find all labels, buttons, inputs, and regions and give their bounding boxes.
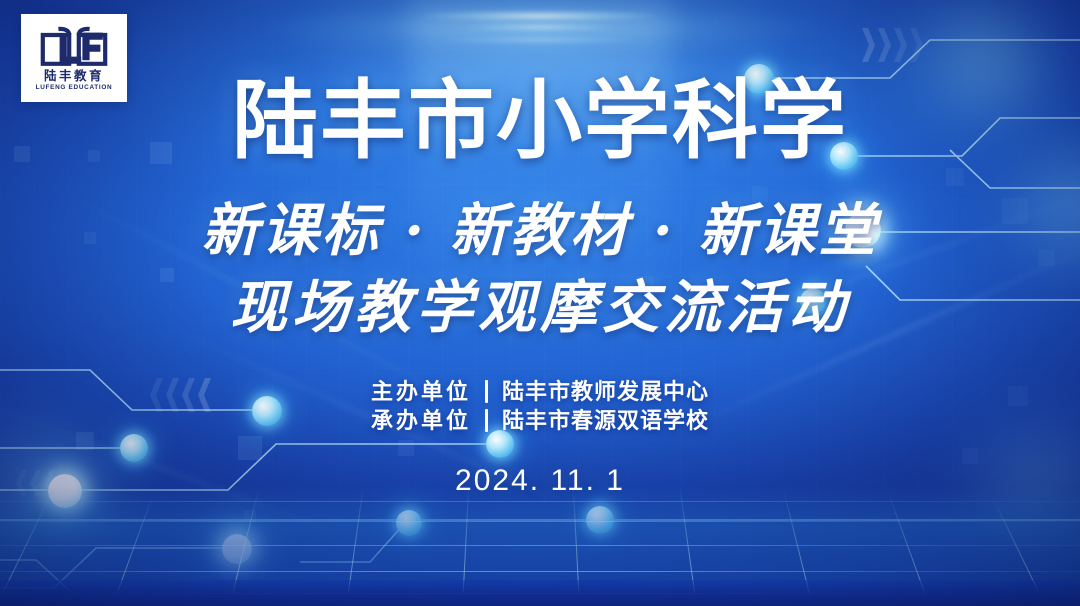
poster-canvas: 陆丰教育 LUFENG EDUCATION 陆丰市小学科学 新课标 · 新教材 … xyxy=(0,0,1080,606)
subtitle-line-2: 现场教学观摩交流活动 xyxy=(230,279,850,336)
organizer-row-coorganizer: 承办单位 陆丰市春源双语学校 xyxy=(371,409,709,432)
organizer-separator-host xyxy=(485,380,488,403)
subtitle-line-1: 新课标 · 新教材 · 新课堂 xyxy=(201,202,878,259)
organizer-row-host: 主办单位 陆丰市教师发展中心 xyxy=(371,380,709,403)
organizer-value-host: 陆丰市教师发展中心 xyxy=(502,381,709,403)
organizer-separator-coorganizer xyxy=(485,409,488,432)
organizer-label-host: 主办单位 xyxy=(371,381,471,403)
organizer-label-coorganizer: 承办单位 xyxy=(371,410,471,432)
organizer-block: 主办单位 陆丰市教师发展中心 承办单位 陆丰市春源双语学校 xyxy=(371,380,709,432)
event-date: 2024. 11. 1 xyxy=(455,466,625,496)
poster-content: 陆丰市小学科学 新课标 · 新教材 · 新课堂 现场教学观摩交流活动 主办单位 … xyxy=(0,0,1080,606)
organizer-value-coorganizer: 陆丰市春源双语学校 xyxy=(502,410,709,432)
page-title: 陆丰市小学科学 xyxy=(232,78,848,164)
